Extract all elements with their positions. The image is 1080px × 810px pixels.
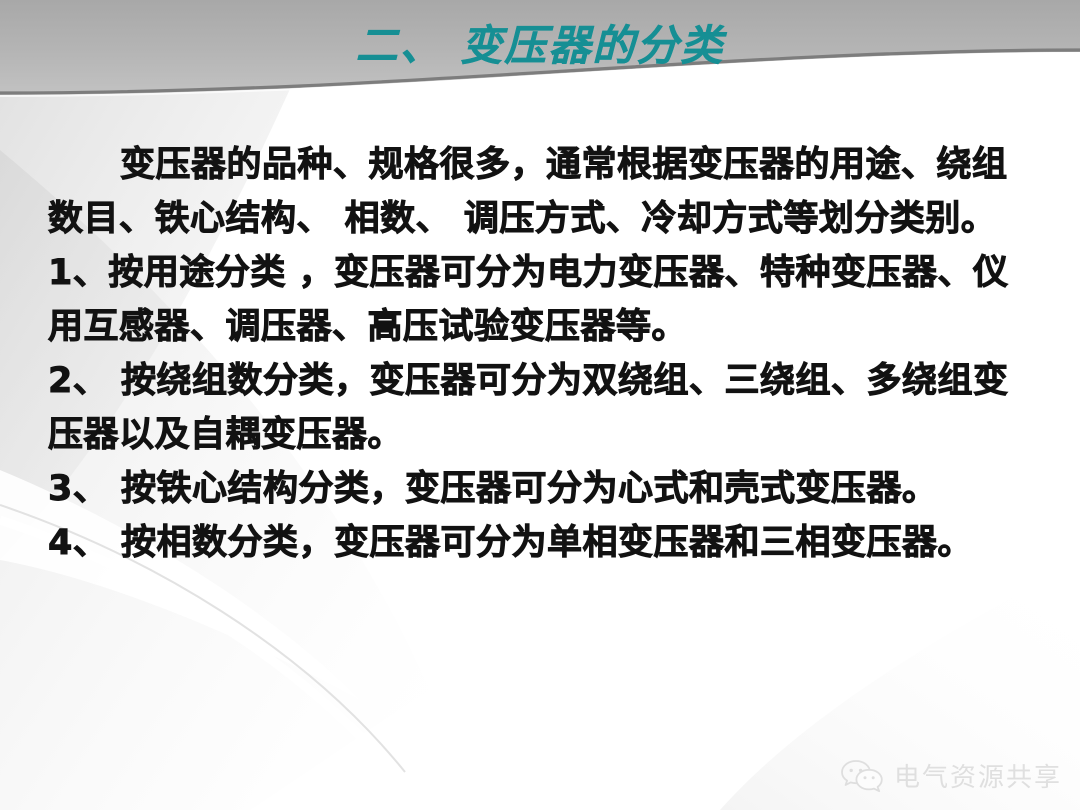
body-paragraph-item-2: 2、 按绕组数分类，变压器可分为双绕组、三绕组、多绕组变压器以及自耦变压器。 <box>48 354 1032 462</box>
watermark-label: 电气资源共享 <box>894 757 1062 794</box>
page-title: 二、 变压器的分类 <box>0 16 1080 76</box>
title-bar: 二、 变压器的分类 <box>0 16 1080 78</box>
body-paragraph-item-1: 1、按用途分类 ，变压器可分为电力变压器、特种变压器、仪用互感器、调压器、高压试… <box>48 246 1032 354</box>
wechat-icon <box>840 758 884 794</box>
body-paragraph-intro: 变压器的品种、规格很多，通常根据变压器的用途、绕组数目、铁心结构、 相数、 调压… <box>48 138 1032 246</box>
body-paragraph-item-4: 4、 按相数分类，变压器可分为单相变压器和三相变压器。 <box>48 516 1032 570</box>
slide-body: 变压器的品种、规格很多，通常根据变压器的用途、绕组数目、铁心结构、 相数、 调压… <box>48 138 1032 570</box>
watermark: 电气资源共享 <box>840 757 1062 794</box>
slide-canvas: 二、 变压器的分类 变压器的品种、规格很多，通常根据变压器的用途、绕组数目、铁心… <box>0 0 1080 810</box>
body-paragraph-item-3: 3、 按铁心结构分类，变压器可分为心式和壳式变压器。 <box>48 462 1032 516</box>
